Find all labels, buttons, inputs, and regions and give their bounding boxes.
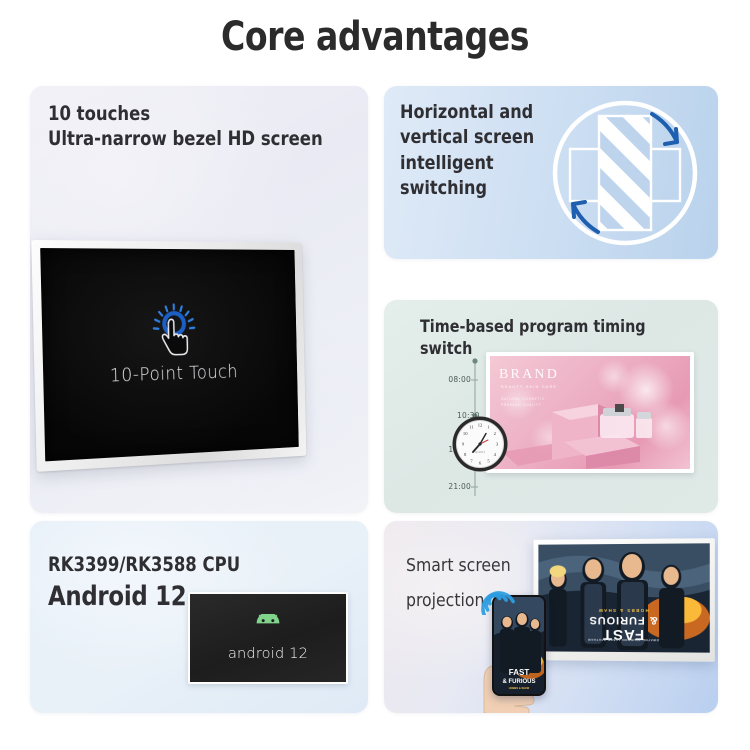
svg-text:12: 12 [478,423,483,428]
core-advantages-page: Core advantages 10 touches Ultra-narrow … [0,0,750,750]
touch-screen-label: 10-Point Touch [43,360,297,388]
android-screen-label: android 12 [228,646,308,662]
page-title: Core advantages [30,14,720,60]
touch-card-heading: 10 touches Ultra-narrow bezel HD screen [48,102,323,152]
svg-text:DWAYNE JOHNSON JASON STATHAM: DWAYNE JOHNSON JASON STATHAM [588,638,659,642]
touch-monitor-illustration: 10-Point Touch [31,240,306,472]
card-program-timing: Time-based program timing switch 08:00 1… [384,300,718,513]
monitor-screen: 10-Point Touch [40,248,299,461]
android-cpu-label: RK3399/RK3588 CPU [48,553,240,578]
card-android-cpu: RK3399/RK3588 CPU Android 12 android 1 [30,521,368,713]
svg-text:10: 10 [463,431,468,436]
cast-waves-icon [476,579,522,615]
screen-rotation-icon [544,92,706,254]
touch-hand-icon [148,302,201,365]
svg-text:& FURIOUS: & FURIOUS [589,614,658,626]
rotate-card-heading: Horizontal and vertical screen intellige… [400,100,534,201]
svg-text:& FURIOUS: & FURIOUS [503,679,536,685]
android-os-label: Android 12 [48,580,186,615]
svg-text:FAST: FAST [509,668,530,677]
cast-tv: FAST & FURIOUS HOBBS & SHAW DWAYNE JOHNS… [534,538,715,662]
tv-screen: FAST & FURIOUS HOBBS & SHAW DWAYNE JOHNS… [538,543,709,652]
time-label-0: 08:00 [448,375,471,384]
timing-ad-screen: BRAND BEAUTY SKIN CARE NATURAL COSMETIC … [486,352,694,473]
ad-screen-content: BRAND BEAUTY SKIN CARE NATURAL COSMETIC … [490,356,690,469]
android-screen: android 12 [188,592,348,684]
time-label-3: 21:00 [448,482,471,491]
svg-text:11: 11 [469,425,474,430]
card-screen-projection: Smart screen projection [384,521,718,713]
android-robot-icon [251,614,285,642]
android-screen-content: android 12 [190,594,346,682]
svg-text:HOBBS & SHAW: HOBBS & SHAW [597,608,648,613]
wall-clock-icon: 121 23 45 67 89 1011 QUARTZ [451,415,509,473]
svg-text:HOBBS & SHAW: HOBBS & SHAW [509,686,530,690]
svg-text:QUARTZ: QUARTZ [475,451,486,454]
card-screen-rotation: Horizontal and vertical screen intellige… [384,86,718,259]
card-ten-touches: 10 touches Ultra-narrow bezel HD screen [30,86,368,513]
